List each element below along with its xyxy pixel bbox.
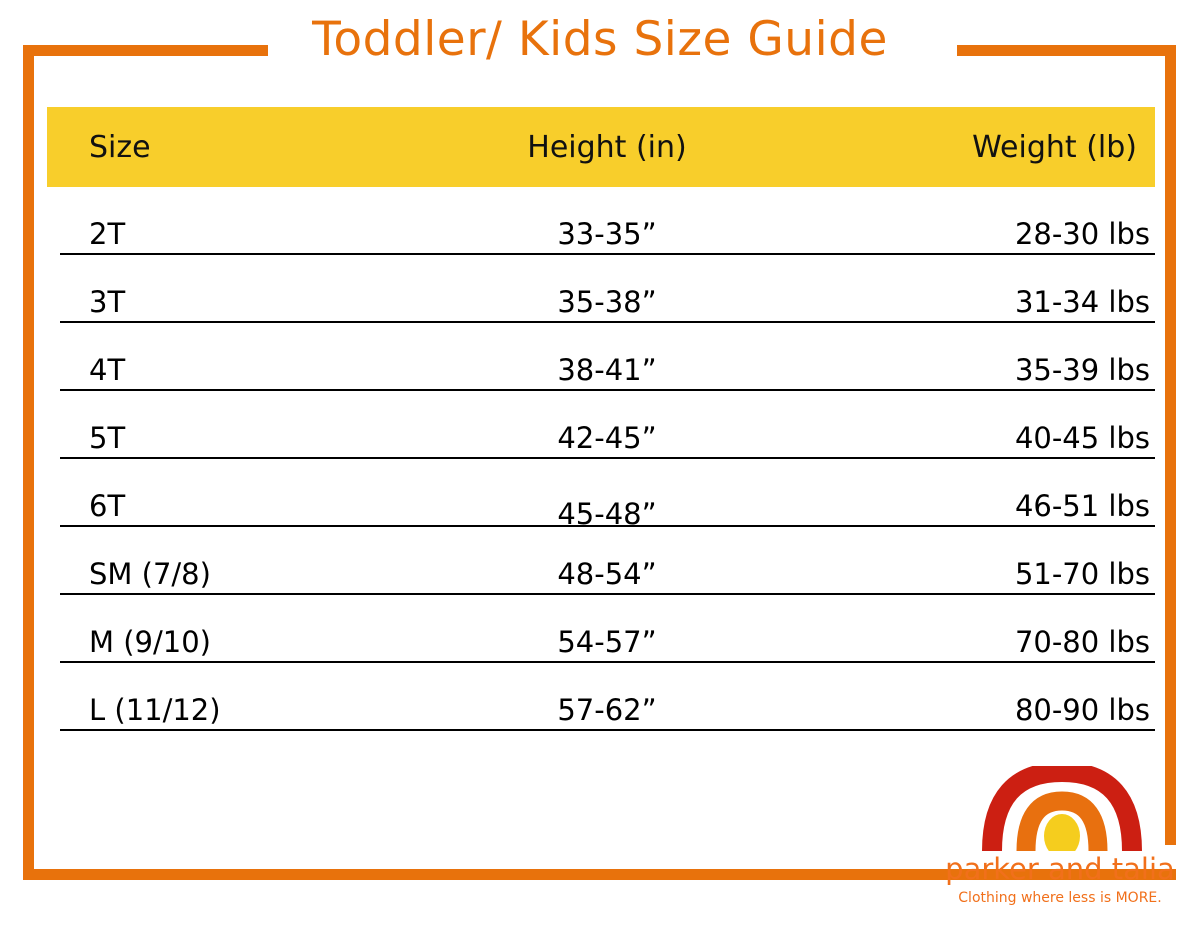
cell-weight: 70-80 lbs bbox=[797, 625, 1155, 661]
brand-logo: parker and talia Clothing where less is … bbox=[920, 766, 1200, 921]
cell-size: 2T bbox=[60, 217, 417, 253]
cell-size: L (11/12) bbox=[60, 693, 417, 729]
table-row: L (11/12) 57-62” 80-90 lbs bbox=[60, 663, 1155, 731]
size-table: Size Height (in) Weight (lb) 2T 33-35” 2… bbox=[47, 107, 1155, 195]
cell-weight: 40-45 lbs bbox=[797, 421, 1155, 457]
cell-weight: 51-70 lbs bbox=[797, 557, 1155, 593]
cell-height: 42-45” bbox=[417, 421, 797, 457]
cell-height: 57-62” bbox=[417, 693, 797, 729]
table-row: 6T 45-48” 46-51 lbs bbox=[60, 459, 1155, 527]
frame-left-segment bbox=[23, 45, 34, 880]
cell-height: 35-38” bbox=[417, 285, 797, 321]
frame-right-segment bbox=[1165, 45, 1176, 845]
rainbow-arch-icon bbox=[982, 766, 1142, 851]
brand-tagline: Clothing where less is MORE. bbox=[920, 890, 1200, 906]
cell-weight: 35-39 lbs bbox=[797, 353, 1155, 389]
table-row: M (9/10) 54-57” 70-80 lbs bbox=[60, 595, 1155, 663]
cell-height: 38-41” bbox=[417, 353, 797, 389]
cell-height: 48-54” bbox=[417, 557, 797, 593]
page-title: Toddler/ Kids Size Guide bbox=[0, 12, 1200, 67]
cell-size: 5T bbox=[60, 421, 417, 457]
table-row: SM (7/8) 48-54” 51-70 lbs bbox=[60, 527, 1155, 595]
cell-size: 3T bbox=[60, 285, 417, 321]
column-header-height: Height (in) bbox=[417, 130, 797, 165]
cell-size: SM (7/8) bbox=[60, 557, 417, 593]
cell-size: M (9/10) bbox=[60, 625, 417, 661]
table-header-row: Size Height (in) Weight (lb) bbox=[47, 107, 1155, 187]
table-row: 3T 35-38” 31-34 lbs bbox=[60, 255, 1155, 323]
cell-weight: 80-90 lbs bbox=[797, 693, 1155, 729]
cell-weight: 31-34 lbs bbox=[797, 285, 1155, 321]
size-guide-page: Toddler/ Kids Size Guide Size Height (in… bbox=[0, 0, 1200, 927]
cell-height: 45-48” bbox=[417, 497, 797, 531]
cell-weight: 28-30 lbs bbox=[797, 217, 1155, 253]
cell-weight: 46-51 lbs bbox=[797, 489, 1155, 525]
table-row: 2T 33-35” 28-30 lbs bbox=[60, 187, 1155, 255]
table-row: 5T 42-45” 40-45 lbs bbox=[60, 391, 1155, 459]
cell-size: 4T bbox=[60, 353, 417, 389]
table-body: 2T 33-35” 28-30 lbs 3T 35-38” 31-34 lbs … bbox=[60, 187, 1155, 731]
cell-height: 33-35” bbox=[417, 217, 797, 253]
cell-height: 54-57” bbox=[417, 625, 797, 661]
table-row: 4T 38-41” 35-39 lbs bbox=[60, 323, 1155, 391]
column-header-size: Size bbox=[47, 130, 417, 165]
column-header-weight: Weight (lb) bbox=[797, 130, 1155, 165]
cell-size: 6T bbox=[60, 489, 417, 525]
brand-name: parker and talia bbox=[920, 852, 1200, 886]
